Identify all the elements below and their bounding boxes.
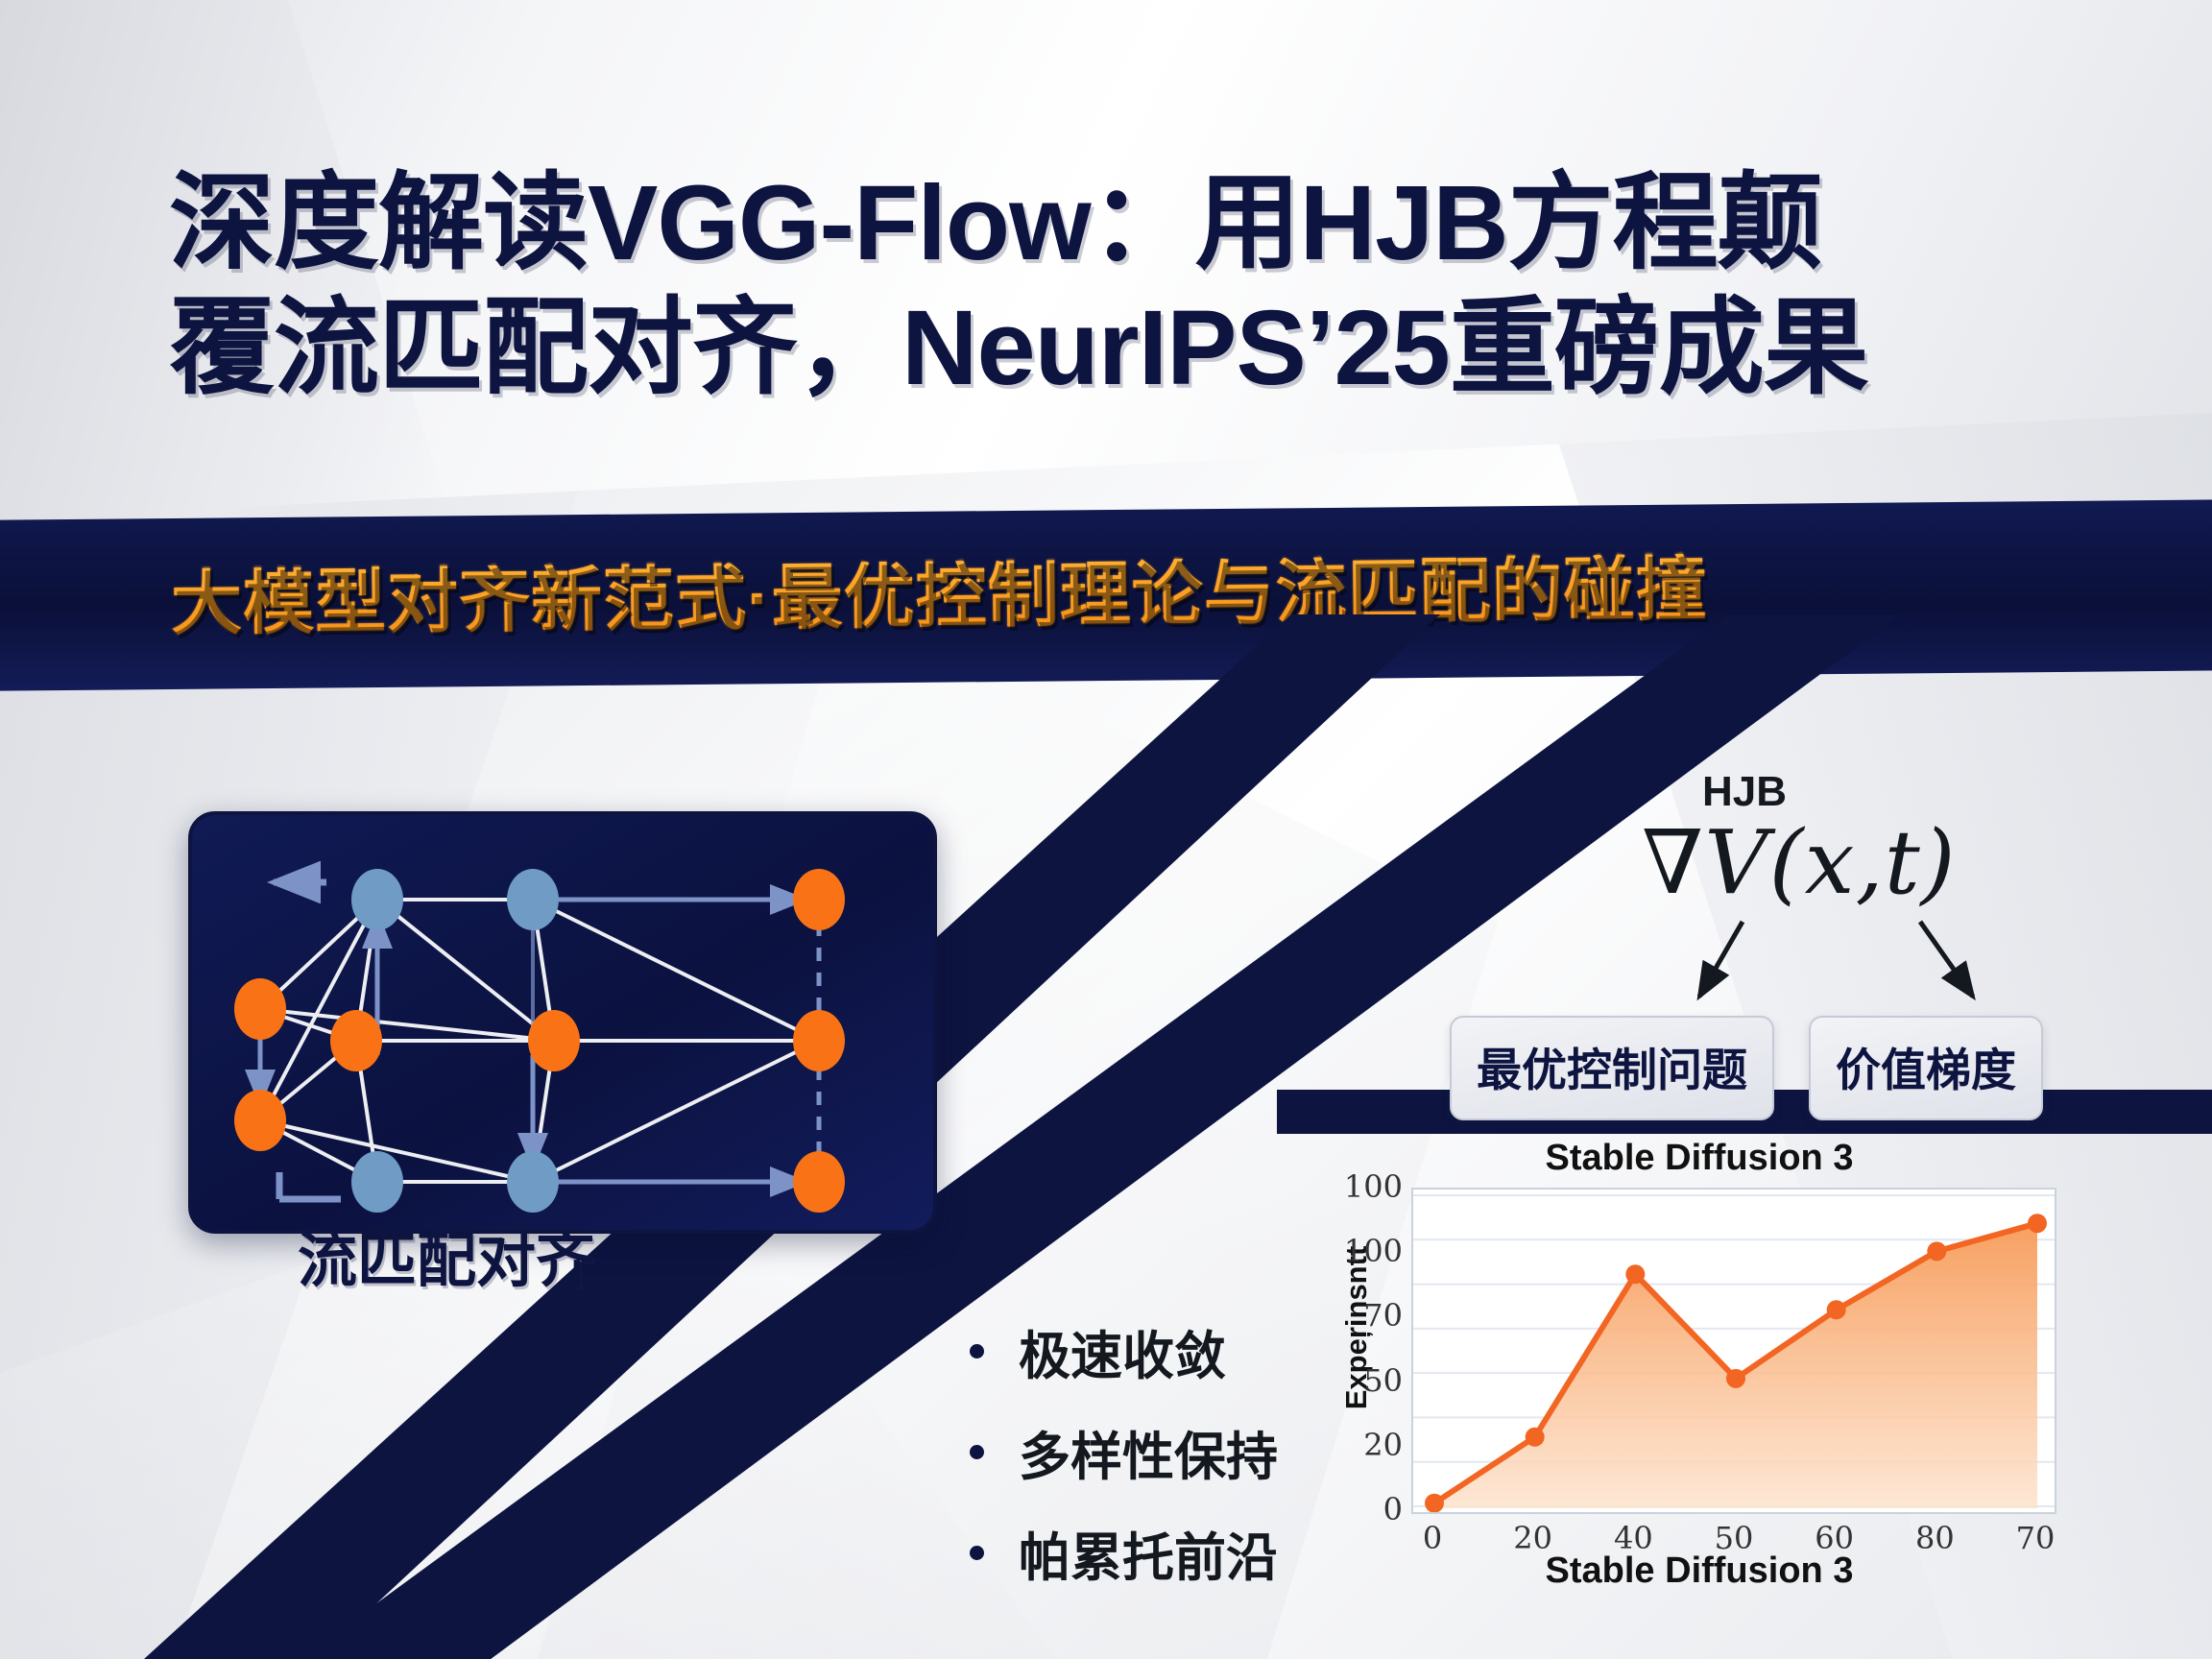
chart-title: Stable Diffusion 3	[1301, 1138, 2098, 1179]
chart-x-axis-label: Stable Diffusion 3	[1301, 1551, 2098, 1592]
bullet-label: 多样性保持	[1019, 1414, 1278, 1490]
pill-value-gradient[interactable]: 价值梯度	[1809, 1016, 2043, 1120]
bullet-dot-icon	[970, 1344, 984, 1358]
chart-data-point	[1425, 1494, 1444, 1512]
chart-plot-area	[1411, 1188, 2056, 1514]
chart-data-point	[1625, 1264, 1645, 1284]
chart-data-point	[1927, 1241, 1946, 1261]
bullet-label: 帕累托前沿	[1019, 1515, 1278, 1591]
network-diagram-svg	[192, 815, 937, 1234]
bullet-label: 极速收敛	[1019, 1313, 1226, 1389]
chart-y-tick-label: 70	[1326, 1297, 1403, 1334]
title-line-1: 深度解读VGG-Flow：用HJB方程颠	[169, 161, 2089, 286]
chart-y-tick-label: 50	[1326, 1362, 1403, 1399]
chart-data-point	[1526, 1428, 1545, 1447]
hjb-pill-row: 最优控制问题 价值梯度	[1450, 1016, 2043, 1120]
chart-data-point	[2028, 1214, 2047, 1233]
performance-chart: Stable Diffusion 3 Expeŗinsntt 100100705…	[1301, 1138, 2098, 1608]
list-item: 极速收敛	[970, 1313, 1278, 1389]
page-title: 深度解读VGG-Flow：用HJB方程颠 覆流匹配对齐，NeurIPS’25重磅…	[169, 161, 2089, 411]
list-item: 多样性保持	[970, 1414, 1278, 1490]
hjb-label: HJB	[1702, 768, 1787, 816]
chart-y-tick-label: 100	[1326, 1168, 1403, 1205]
chart-y-tick-label: 20	[1326, 1427, 1403, 1463]
chart-area-fill	[1434, 1223, 2037, 1508]
network-diagram-card	[188, 811, 937, 1234]
feature-bullet-list: 极速收敛 多样性保持 帕累托前沿	[970, 1313, 1278, 1616]
pill-optimal-control[interactable]: 最优控制问题	[1450, 1016, 1774, 1120]
chart-y-ticks: 1001007050200	[1310, 1188, 1403, 1514]
bullet-dot-icon	[970, 1445, 984, 1459]
list-item: 帕累托前沿	[970, 1515, 1278, 1591]
title-line-2: 覆流匹配对齐，NeurIPS’25重磅成果	[169, 286, 2089, 411]
chart-y-tick-label: 100	[1326, 1233, 1403, 1269]
hjb-formula: ∇V(x,t)	[1642, 811, 1957, 914]
chart-data-point	[1827, 1300, 1846, 1319]
network-diagram-caption: 流匹配对齐	[298, 1212, 893, 1298]
chart-series-svg	[1413, 1190, 2055, 1512]
bullet-dot-icon	[970, 1546, 984, 1560]
chart-data-point	[1726, 1369, 1745, 1388]
